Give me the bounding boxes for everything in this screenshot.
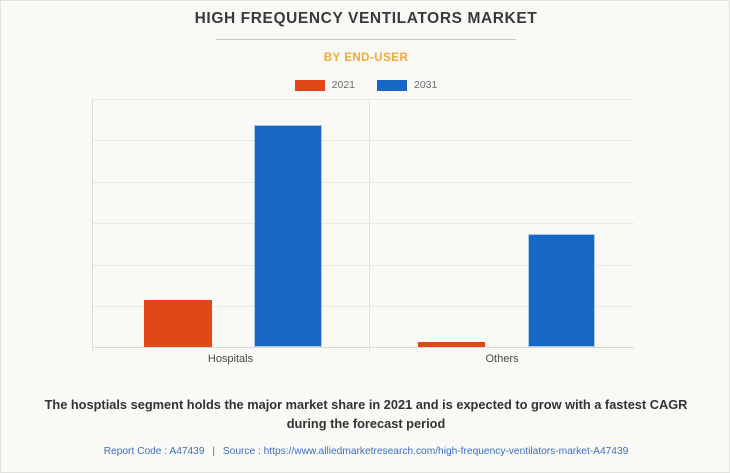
x-axis-line xyxy=(92,347,634,348)
legend-item-2031[interactable]: 2031 xyxy=(377,79,437,91)
bar-hospitals-2031[interactable] xyxy=(254,125,322,347)
chart-subtitle: BY END-USER xyxy=(1,52,730,64)
legend-label-2031: 2031 xyxy=(414,79,437,91)
gridline-5 xyxy=(92,140,634,141)
plot-area xyxy=(92,99,634,347)
gridline-4 xyxy=(92,182,634,183)
footer-report-code: Report Code : A47439 xyxy=(104,446,205,457)
footer-separator: | xyxy=(207,446,220,457)
gridline-6 xyxy=(92,99,634,100)
y-axis-line xyxy=(92,99,93,351)
x-axis-label-hospitals: Hospitals xyxy=(92,353,369,365)
legend-swatch-2031 xyxy=(377,80,407,91)
chart-legend: 2021 2031 xyxy=(1,79,730,91)
x-axis-label-others: Others xyxy=(370,353,634,365)
category-divider xyxy=(369,99,370,351)
legend-item-2021[interactable]: 2021 xyxy=(295,79,355,91)
bar-others-2031[interactable] xyxy=(528,234,595,347)
chart-caption: The hosptials segment holds the major ma… xyxy=(26,395,706,433)
footer: Report Code : A47439 | Source : https://… xyxy=(1,446,730,457)
bar-hospitals-2021[interactable] xyxy=(144,300,212,347)
bar-others-2021[interactable] xyxy=(418,342,485,347)
page-title: HIGH FREQUENCY VENTILATORS MARKET xyxy=(1,10,730,28)
legend-label-2021: 2021 xyxy=(332,79,355,91)
footer-source-link[interactable]: Source : https://www.alliedmarketresearc… xyxy=(223,446,628,457)
gridline-3 xyxy=(92,223,634,224)
title-divider xyxy=(216,39,516,40)
legend-swatch-2021 xyxy=(295,80,325,91)
chart-card: HIGH FREQUENCY VENTILATORS MARKET BY END… xyxy=(0,0,730,473)
